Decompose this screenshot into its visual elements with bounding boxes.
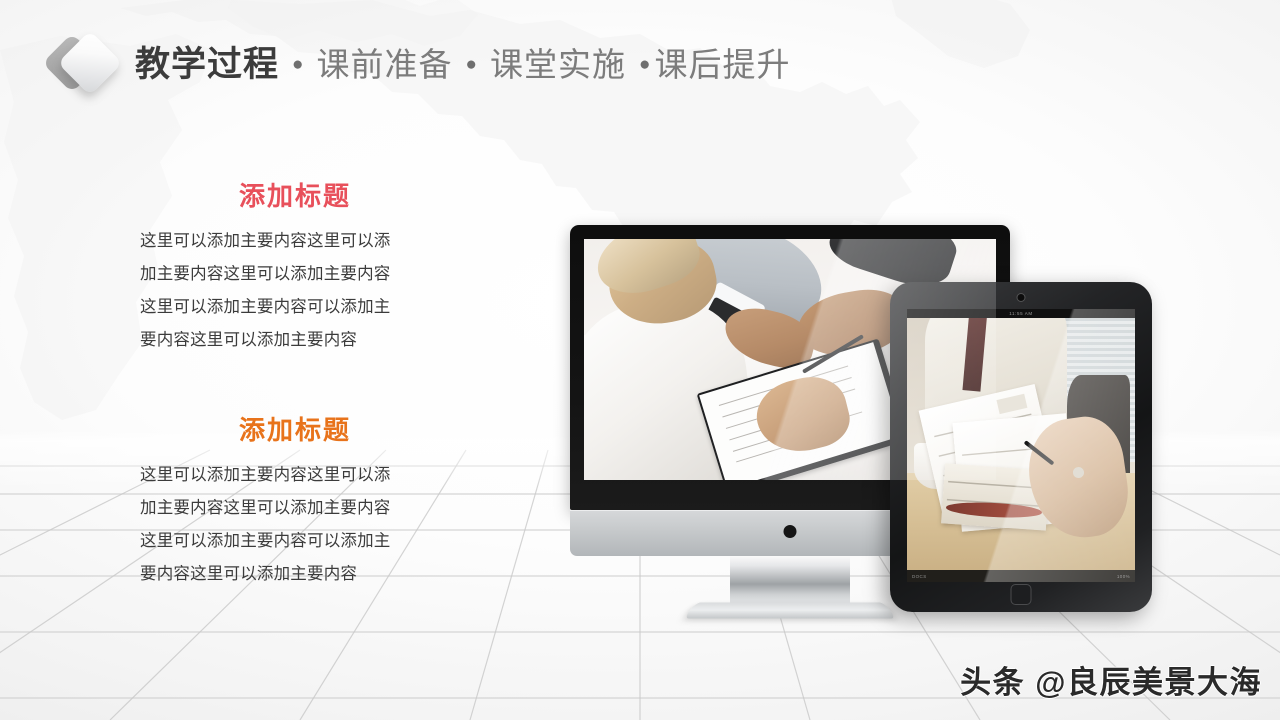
block-2-line-3: 这里可以添加主要内容可以添加主: [140, 525, 450, 558]
block-1-line-3: 这里可以添加主要内容可以添加主: [140, 291, 450, 324]
device-mockup-group: 11:55 AM: [560, 212, 1180, 632]
title-separator-2: ●: [453, 54, 490, 76]
block-2-line-4: 要内容这里可以添加主要内容: [140, 558, 450, 591]
block-2-body: 这里可以添加主要内容这里可以添 加主要内容这里可以添加主要内容 这里可以添加主要…: [140, 459, 450, 591]
tablet-home-button[interactable]: [1011, 584, 1032, 605]
block-1-line-1: 这里可以添加主要内容这里可以添: [140, 225, 450, 258]
double-diamond-logo-icon: [45, 30, 125, 100]
block-2-title: 添加标题: [140, 416, 450, 445]
monitor-stand-base: [683, 602, 897, 618]
block-1-title: 添加标题: [140, 182, 450, 211]
block-2-line-1: 这里可以添加主要内容这里可以添: [140, 459, 450, 492]
tablet-status-bar: 11:55 AM: [907, 309, 1135, 318]
title-separator-1: ●: [279, 54, 316, 76]
block-1-line-4: 要内容这里可以添加主要内容: [140, 324, 450, 357]
hands-holding-financial-report-photo: [907, 309, 1135, 582]
block-2-line-2: 加主要内容这里可以添加主要内容: [140, 492, 450, 525]
content-block-2: 添加标题 这里可以添加主要内容这里可以添 加主要内容这里可以添加主要内容 这里可…: [140, 416, 450, 591]
presentation-slide: 教学过程 ● 课前准备 ● 课堂实施 ● 课后提升 添加标题 这里可以添加主要内…: [0, 0, 1280, 720]
title-separator-3: ●: [626, 54, 654, 76]
author-watermark: 头条 @良辰美景大海: [960, 657, 1262, 702]
tablet-bottom-left-label: DOCS: [912, 574, 927, 579]
block-1-body: 这里可以添加主要内容这里可以添 加主要内容这里可以添加主要内容 这里可以添加主要…: [140, 225, 450, 357]
tablet-status-time: 11:55 AM: [1009, 311, 1032, 316]
tablet-bottom-bar: DOCS 100%: [907, 570, 1135, 582]
tablet-screen: 11:55 AM: [907, 309, 1135, 582]
title-sub-1: 课前准备: [317, 38, 453, 86]
content-block-1: 添加标题 这里可以添加主要内容这里可以添 加主要内容这里可以添加主要内容 这里可…: [140, 182, 450, 357]
tablet-camera-icon: [1018, 294, 1025, 301]
title-sub-2: 课堂实施: [490, 38, 626, 86]
title-sub-3: 课后提升: [654, 38, 790, 86]
block-1-line-2: 加主要内容这里可以添加主要内容: [140, 258, 450, 291]
page-title: 教学过程 ● 课前准备 ● 课堂实施 ● 课后提升: [135, 36, 790, 92]
tablet-bottom-right-label: 100%: [1117, 574, 1130, 579]
monitor-brand-dot-icon: [784, 525, 797, 538]
slide-header: 教学过程 ● 课前准备 ● 课堂实施 ● 课后提升: [0, 0, 1280, 120]
tablet-mockup: 11:55 AM: [890, 282, 1152, 612]
title-main-text: 教学过程: [135, 36, 279, 87]
